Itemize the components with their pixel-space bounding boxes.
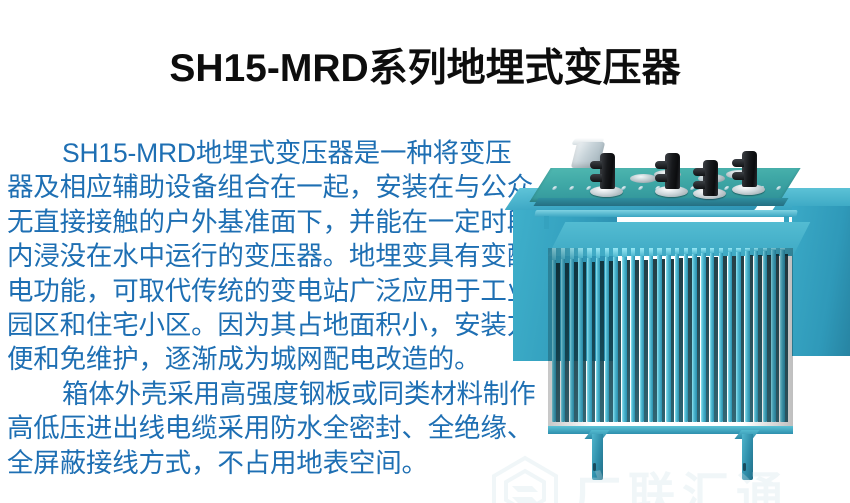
fin-top-edge	[719, 248, 723, 253]
radiator-fin	[622, 254, 626, 422]
paragraph-line: 全屏蔽接线方式，不占用地表空间。	[7, 446, 512, 480]
top-deck-plate-edge	[534, 198, 789, 206]
radiator-fin	[736, 250, 740, 422]
radiator-fin	[596, 255, 600, 422]
fin-gap	[741, 256, 745, 422]
fin-gap	[591, 262, 595, 422]
bushing-flange-small	[630, 174, 657, 183]
fin-top-edge	[666, 248, 670, 255]
radiator-fin	[771, 248, 775, 422]
radiator-fin	[754, 249, 758, 422]
fin-top-edge	[692, 248, 696, 254]
bushing	[665, 153, 680, 189]
radiator-fin	[649, 253, 653, 422]
paragraph-line: 箱体外壳采用高强度钢板或同类材料制作	[7, 377, 512, 411]
fin-gap	[618, 261, 622, 422]
fin-gap	[670, 259, 674, 423]
fin-gap	[635, 260, 639, 422]
paragraph-line: 电功能，可取代传统的变电站广泛应用于工业	[7, 274, 512, 308]
fin-top-edge	[587, 248, 591, 258]
fin-gap	[776, 254, 780, 422]
radiator-fin	[692, 251, 696, 422]
radiator-fin	[763, 249, 767, 422]
fin-gap	[767, 255, 771, 422]
support-foot	[742, 434, 753, 480]
radiator-fin	[631, 254, 635, 422]
fin-top-edge	[701, 248, 705, 253]
description-text-block: SH15-MRD地埋式变压器是一种将变压 器及相应辅助设备组合在一起，安装在与公…	[7, 136, 512, 480]
product-promo-image: SH15-MRD系列地埋式变压器 SH15-MRD地埋式变压器是一种将变压 器及…	[0, 0, 850, 503]
fin-top-edge	[605, 248, 609, 257]
fin-top-edge	[631, 248, 635, 256]
bolt-icon	[551, 186, 557, 190]
paragraph-line: 园区和住宅小区。因为其占地面积小，安装方	[7, 308, 512, 342]
watermark: 广联汇通 GUANGLIANHUITONG	[488, 448, 818, 503]
bushing	[703, 160, 718, 196]
fin-gap	[697, 257, 701, 422]
radiator-fin	[745, 249, 749, 422]
fin-top-edge	[596, 248, 600, 258]
fin-top-edge	[578, 248, 582, 258]
fin-top-edge	[675, 248, 679, 254]
radiator-fin-bank	[548, 222, 793, 434]
fin-top-edge	[745, 248, 749, 251]
fin-top-edge	[561, 248, 565, 259]
bolt-icon	[569, 186, 575, 190]
radiator-fin	[587, 256, 591, 422]
radiator-fin	[605, 255, 609, 422]
fin-gap	[679, 258, 683, 422]
radiator-fin	[684, 252, 688, 422]
page-title: SH15-MRD系列地埋式变压器	[0, 44, 850, 94]
fin-top-edge	[763, 248, 767, 251]
fin-top-edge	[640, 248, 644, 256]
fin-top-edge	[622, 248, 626, 257]
fin-gap	[609, 261, 613, 422]
fin-gap	[653, 259, 657, 422]
fin-gap	[662, 259, 666, 422]
fin-gap	[758, 255, 762, 422]
product-photo: 广联汇通 GUANGLIANHUITONG	[440, 130, 850, 503]
fin-gap	[732, 256, 736, 422]
radiator-fin	[613, 255, 617, 422]
fin-gap	[749, 255, 753, 422]
paragraph-line: 无直接接触的户外基准面下，并能在一定时段	[7, 205, 512, 239]
radiator-fin	[561, 257, 565, 422]
fin-top-edge	[570, 248, 574, 259]
fin-top-edge	[771, 248, 775, 250]
fin-gap	[565, 263, 569, 422]
fin-gap	[600, 261, 604, 422]
radiator-fin	[719, 250, 723, 422]
fin-gap	[688, 258, 692, 422]
bushing	[600, 153, 615, 189]
fin-gap	[714, 257, 718, 422]
radiator-fin	[701, 251, 705, 422]
fin-top-edge	[710, 248, 714, 253]
bolt-icon	[637, 186, 643, 190]
fin-gap	[705, 257, 709, 422]
fin-top-edge	[780, 248, 784, 250]
fin-gap	[574, 262, 578, 422]
fin-top-edge	[613, 248, 617, 257]
fin-top-edge	[728, 248, 732, 252]
fin-top-edge	[657, 248, 661, 255]
fin-gap	[626, 260, 630, 422]
radiator-fin	[780, 248, 784, 422]
fin-top-edge	[754, 248, 758, 251]
fin-gap	[644, 260, 648, 422]
fin-gap	[583, 262, 587, 422]
paragraph-line: SH15-MRD地埋式变压器是一种将变压	[7, 136, 512, 170]
radiator-fin	[578, 256, 582, 422]
fin-top-edge	[736, 248, 740, 252]
bushing	[742, 151, 757, 187]
radiator-fin	[640, 254, 644, 422]
fin-gap	[723, 256, 727, 422]
fin-gap	[556, 263, 560, 422]
fin-top-edge	[552, 248, 556, 260]
radiator-fin	[675, 252, 679, 422]
support-foot	[592, 434, 603, 480]
lifting-cross-rail	[534, 210, 797, 217]
fin-top-edge	[649, 248, 653, 256]
watermark-chinese-text: 广联汇通	[574, 456, 790, 503]
paragraph-line: 内浸没在水中运行的变压器。地埋变具有变配	[7, 239, 512, 273]
paragraph-line: 便和免维护，逐渐成为城网配电改造的。	[7, 342, 512, 376]
radiator-fin	[570, 256, 574, 422]
radiator-fin	[666, 253, 670, 423]
fin-top-edge	[684, 248, 688, 254]
radiator-fin	[552, 257, 556, 422]
bolt-icon	[724, 186, 730, 190]
radiator-fin	[657, 253, 661, 422]
brand-logo-icon	[488, 454, 562, 503]
radiator-fin	[710, 251, 714, 422]
paragraph-line: 高低压进出线电缆采用防水全密封、全绝缘、	[7, 411, 512, 445]
fin-gap	[784, 254, 788, 422]
paragraph-line: 器及相应辅助设备组合在一起，安装在与公众	[7, 170, 512, 204]
radiator-fin	[728, 250, 732, 422]
